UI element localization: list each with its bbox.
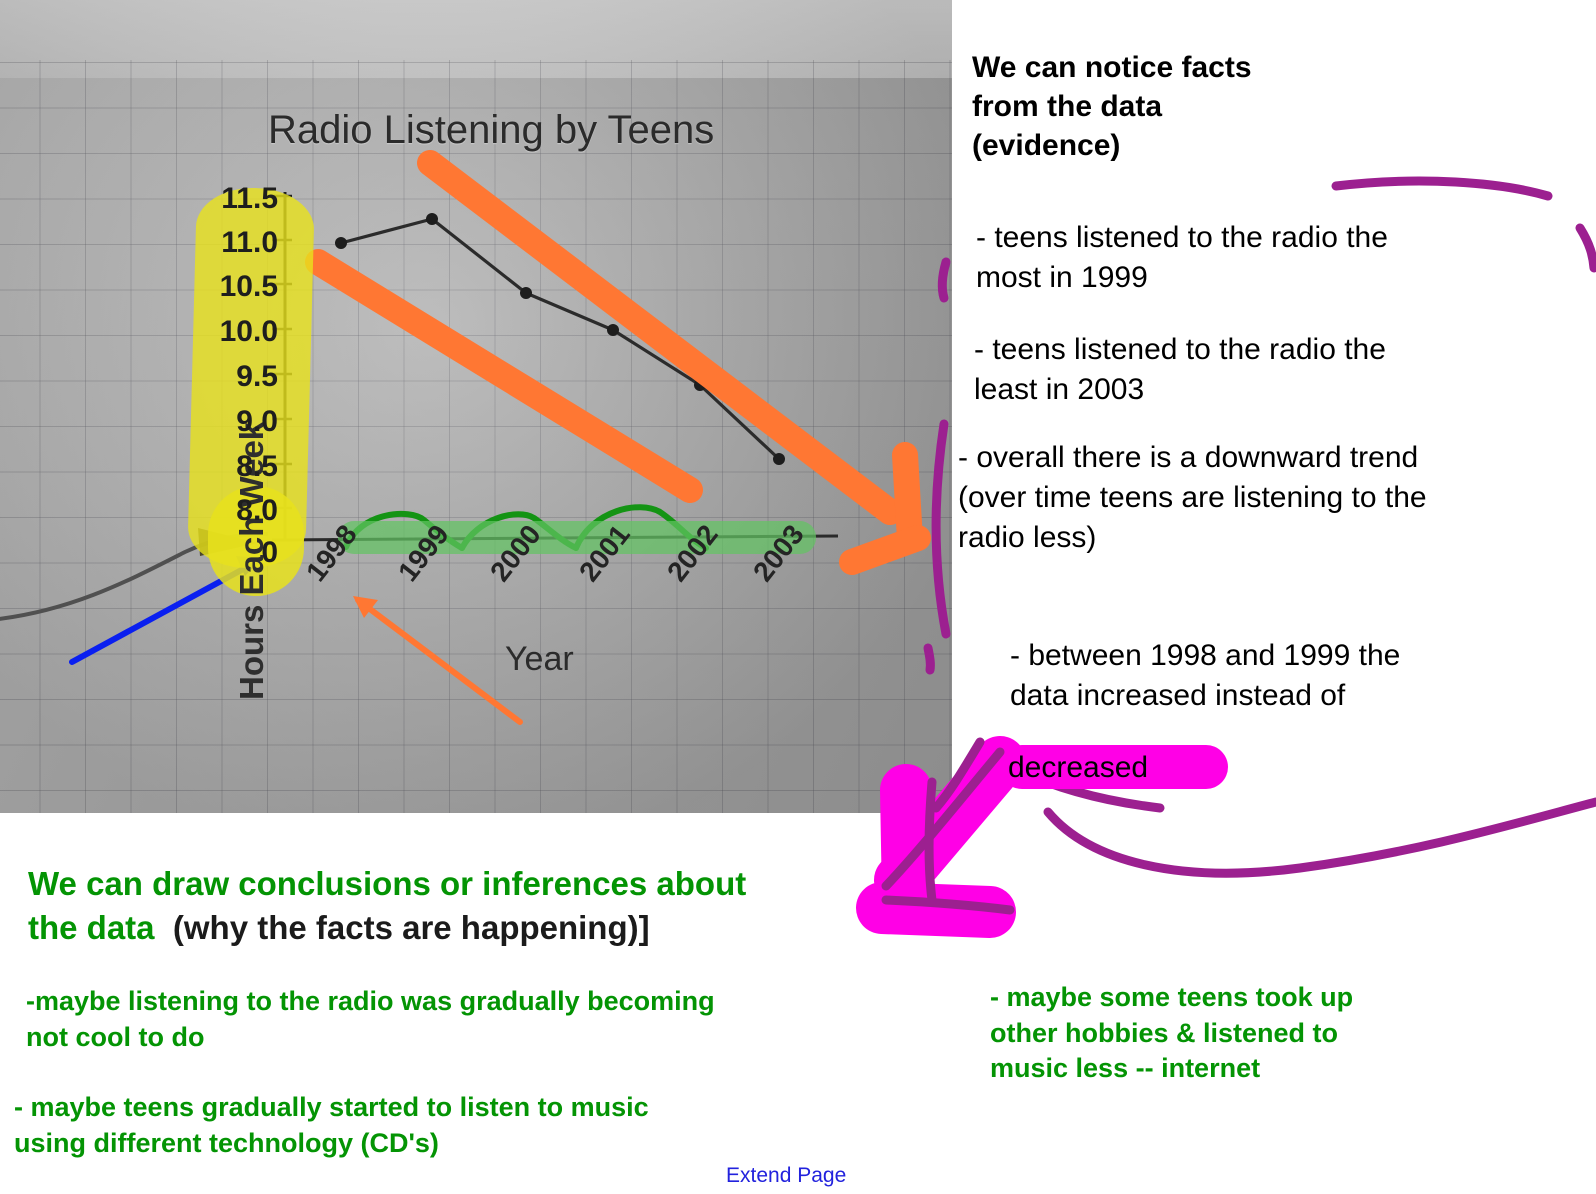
fact-item-least-2003: - teens listened to the radio the least …	[974, 330, 1586, 410]
y-tick-11-5: 11.5	[186, 182, 278, 216]
extend-page-link[interactable]: Extend Page	[726, 1164, 846, 1188]
fact-item-most-1999: - teens listened to the radio the most i…	[976, 218, 1588, 298]
slide-canvas: Radio Listening by Teens Hours Each Week…	[0, 0, 1596, 1194]
y-tick-0: 0	[186, 536, 278, 570]
conclusions-heading: We can draw conclusions or inferences ab…	[28, 862, 968, 950]
conclusion-bullet-hobbies: - maybe some teens took up other hobbies…	[990, 980, 1550, 1087]
fact-item-1998-1999-increase: - between 1998 and 1999 the data increas…	[1010, 636, 1596, 716]
y-tick-8-0: 8.0	[186, 494, 278, 528]
x-axis-label: Year	[505, 640, 574, 679]
y-tick-10-5: 10.5	[186, 270, 278, 304]
facts-panel: We can notice facts from the data (evide…	[952, 0, 1596, 930]
facts-heading: We can notice facts from the data (evide…	[972, 48, 1572, 165]
conclusion-bullet-technology: - maybe teens gradually started to liste…	[14, 1090, 934, 1161]
conclusions-heading-black: (why the facts are happening)]	[173, 909, 650, 946]
graph-paper-grid	[0, 60, 952, 813]
conclusion-bullet-not-cool: -maybe listening to the radio was gradua…	[26, 984, 946, 1055]
y-tick-8-5: 8.5	[186, 450, 278, 484]
y-tick-9-0: 9.0	[186, 405, 278, 439]
fact-word-decreased: decreased	[1008, 748, 1148, 788]
fact-item-downward-trend: - overall there is a downward trend (ove…	[958, 438, 1596, 559]
chart-title: Radio Listening by Teens	[268, 108, 714, 153]
scanned-graph-photo: Radio Listening by Teens Hours Each Week…	[0, 0, 952, 813]
y-tick-11-0: 11.0	[186, 226, 278, 260]
y-tick-9-5: 9.5	[186, 360, 278, 394]
y-tick-10-0: 10.0	[186, 315, 278, 349]
